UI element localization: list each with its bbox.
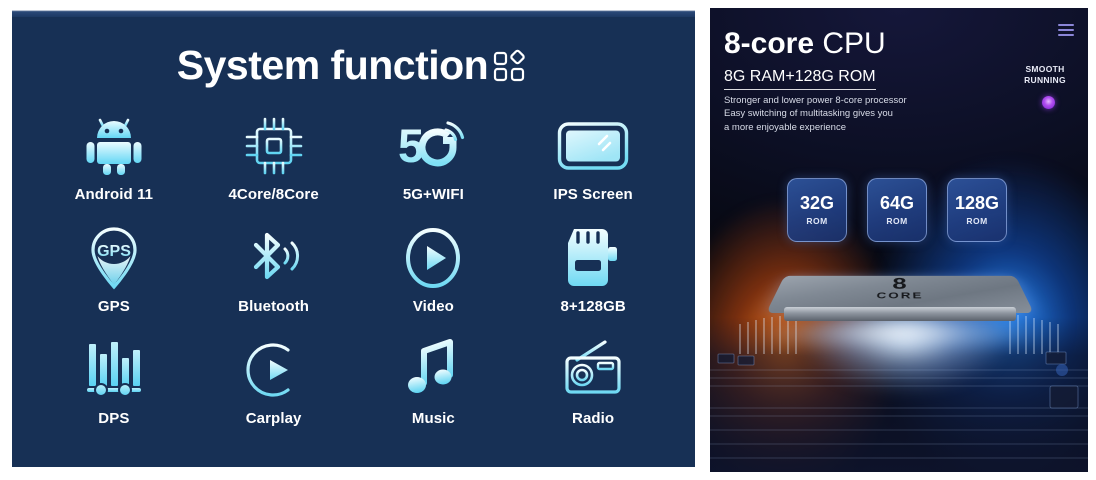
feature-item-dps[interactable]: DPS [34, 337, 194, 449]
product-feature-banner: System function [0, 0, 1096, 480]
grid-diamond-icon [492, 48, 530, 86]
feature-item-storage[interactable]: 8+128GB [513, 225, 673, 337]
rom-kind: ROM [886, 216, 907, 226]
rom-option-32g[interactable]: 32G ROM [787, 178, 847, 242]
android-robot-icon [84, 115, 144, 177]
purple-dot-icon [1042, 96, 1055, 109]
radio-icon [561, 340, 625, 400]
rom-size: 64G [880, 194, 914, 212]
status-badge: SMOOTH RUNNING [1012, 64, 1078, 86]
feature-label: Music [412, 410, 455, 427]
chip-logo: 8 CORE [759, 277, 1040, 301]
hero-title-rest: CPU [814, 27, 886, 60]
feature-label: GPS [98, 298, 130, 315]
rom-option-128g[interactable]: 128G ROM [947, 178, 1007, 242]
feature-item-music[interactable]: Music [354, 337, 514, 449]
rom-size: 128G [955, 194, 999, 212]
feature-item-cpu[interactable]: 4Core/8Core [194, 113, 354, 225]
svg-text:GPS: GPS [97, 243, 131, 260]
play-circle-icon [404, 227, 462, 289]
feature-label: DPS [98, 410, 129, 427]
music-note-icon [404, 339, 462, 401]
hamburger-menu-icon[interactable] [1058, 24, 1074, 36]
chip-core-word: CORE [759, 291, 1040, 301]
feature-item-radio[interactable]: Radio [513, 337, 673, 449]
rom-size: 32G [800, 194, 834, 212]
feature-item-video[interactable]: Video [354, 225, 514, 337]
system-function-panel: System function [12, 8, 695, 467]
rom-options: 32G ROM 64G ROM 128G ROM [787, 178, 1007, 242]
feature-label: 4Core/8Core [228, 186, 318, 203]
hero-description: Stronger and lower power 8-core processo… [724, 94, 907, 134]
screen-icon [557, 120, 629, 172]
bluetooth-icon [242, 227, 306, 289]
feature-label: 8+128GB [560, 298, 625, 315]
rom-kind: ROM [806, 216, 827, 226]
feature-label: 5G+WIFI [403, 186, 464, 203]
equalizer-icon [84, 340, 144, 400]
feature-label: Video [413, 298, 454, 315]
chip-core-count: 8 [765, 277, 1036, 291]
gps-pin-icon: GPS [86, 226, 142, 290]
panel-body: System function [12, 17, 695, 467]
carplay-icon [244, 340, 304, 400]
feature-label: Android 11 [75, 186, 154, 203]
hero-title-strong: 8-core [724, 27, 814, 60]
feature-label: Carplay [246, 410, 302, 427]
chip-side-edge [784, 307, 1016, 321]
feature-grid: Android 11 [34, 113, 673, 449]
sd-card-icon [566, 227, 620, 289]
5g-wifi-icon: 5 [398, 116, 468, 176]
rom-kind: ROM [966, 216, 987, 226]
hero-title: 8-core CPU [724, 29, 886, 59]
page-title: System function [12, 45, 695, 86]
feature-item-carplay[interactable]: Carplay [194, 337, 354, 449]
feature-item-gps[interactable]: GPS GPS [34, 225, 194, 337]
feature-label: Bluetooth [238, 298, 309, 315]
panel-top-strip [12, 8, 695, 17]
cpu-hero-panel: 8 CORE 32G ROM 64G ROM 128G ROM 8-core C… [710, 8, 1088, 472]
page-title-text: System function [177, 45, 488, 86]
feature-item-5g[interactable]: 5 5G+WIFI [354, 113, 514, 225]
feature-item-ips-screen[interactable]: IPS Screen [513, 113, 673, 225]
cpu-chip-icon [243, 115, 305, 177]
feature-label: IPS Screen [553, 186, 632, 203]
rom-option-64g[interactable]: 64G ROM [867, 178, 927, 242]
feature-item-bluetooth[interactable]: Bluetooth [194, 225, 354, 337]
feature-item-android[interactable]: Android 11 [34, 113, 194, 225]
hero-subtitle: 8G RAM+128G ROM [724, 68, 876, 90]
cpu-chip-photo: 8 CORE [766, 263, 1034, 355]
feature-label: Radio [572, 410, 614, 427]
